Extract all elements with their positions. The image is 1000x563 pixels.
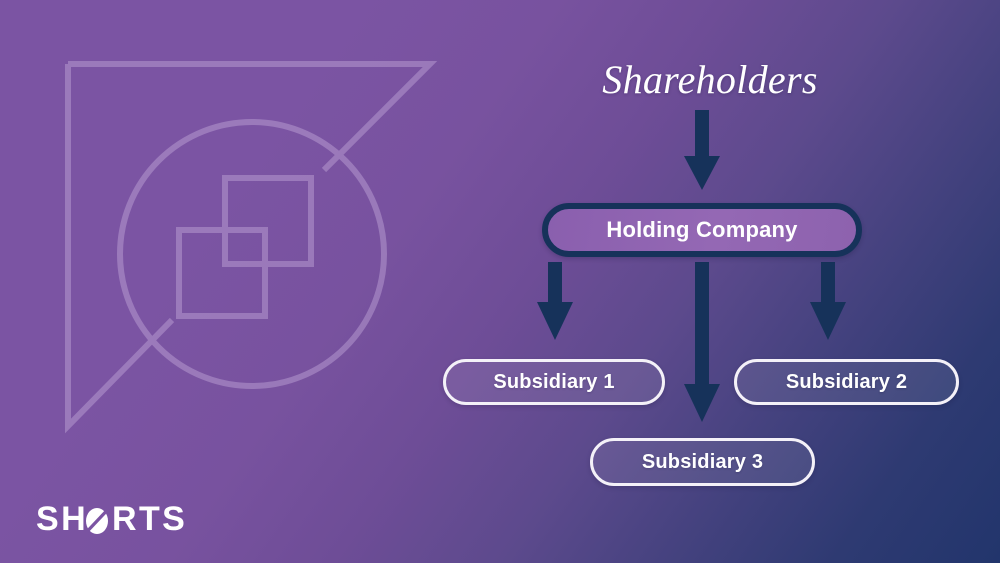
node-subsidiary-1[interactable]: Subsidiary 1 xyxy=(443,359,665,405)
arrow-holding-to-subsidiary-3 xyxy=(684,262,720,422)
wordmark-letters-sh: SH xyxy=(36,500,88,538)
shorts-wordmark-svg: SH RTS xyxy=(36,500,212,540)
split-ellipse-o-icon xyxy=(86,508,108,534)
arrow-holding-to-subsidiary-1 xyxy=(537,262,573,340)
node-subsidiary-3[interactable]: Subsidiary 3 xyxy=(590,438,815,486)
brand-watermark xyxy=(62,58,442,438)
slide-canvas: SH RTS Shareholders xyxy=(0,0,1000,563)
node-holding-company[interactable]: Holding Company xyxy=(542,203,862,257)
wordmark-letters-rts: RTS xyxy=(112,500,187,538)
speech-bubble-overlapping-squares-icon xyxy=(62,58,442,438)
shareholders-title: Shareholders xyxy=(420,58,1000,102)
shorts-wordmark: SH RTS xyxy=(36,498,212,542)
arrow-holding-to-subsidiary-2 xyxy=(810,262,846,340)
node-subsidiary-2[interactable]: Subsidiary 2 xyxy=(734,359,959,405)
org-chart-diagram: Shareholders Holdi xyxy=(420,0,1000,563)
arrow-shareholders-to-holding xyxy=(684,110,720,190)
